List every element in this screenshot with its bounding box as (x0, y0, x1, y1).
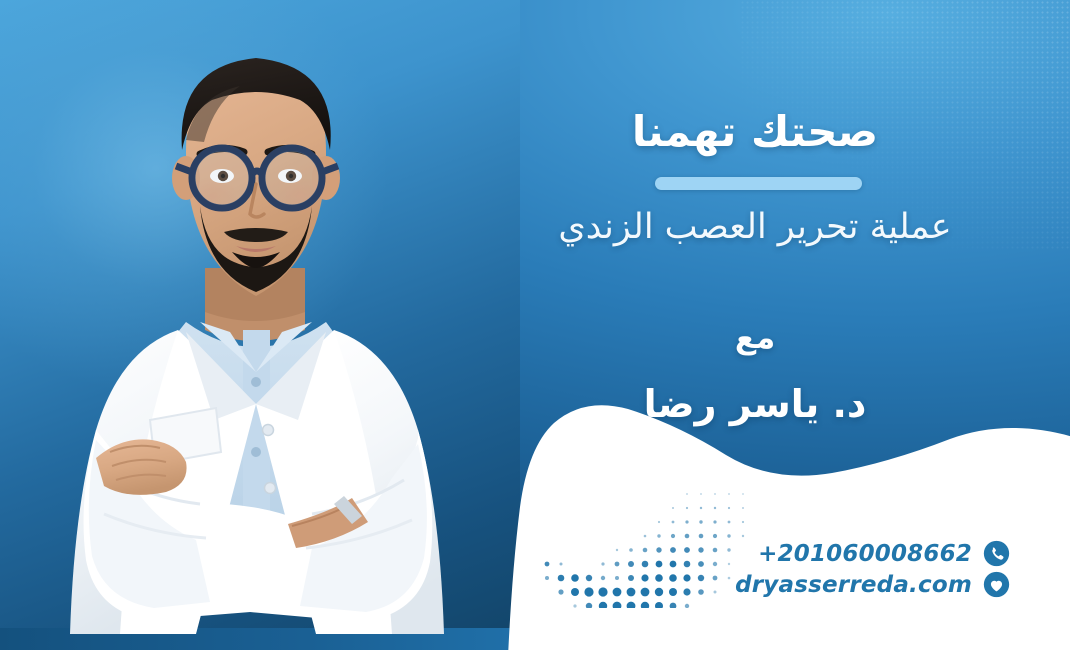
contact-block: +201060008662 dryasserreda.com (700, 540, 1010, 610)
phone-row[interactable]: +201060008662 (758, 540, 1010, 567)
doctor-photo (0, 0, 540, 634)
website-row[interactable]: dryasserreda.com (735, 571, 1010, 598)
phone-number[interactable]: +201060008662 (758, 541, 972, 567)
website-url[interactable]: dryasserreda.com (735, 572, 972, 598)
with-label: مع (470, 320, 1040, 356)
divider-bar (655, 177, 862, 190)
page-title: صحتك تهمنا (470, 108, 1040, 156)
procedure-subtitle: عملية تحرير العصب الزندي (470, 206, 1040, 248)
doctor-portrait-illustration (0, 0, 540, 634)
banner-canvas: صحتك تهمنا عملية تحرير العصب الزندي مع د… (0, 0, 1070, 650)
phone-icon[interactable] (983, 540, 1010, 567)
heart-icon[interactable] (983, 571, 1010, 598)
